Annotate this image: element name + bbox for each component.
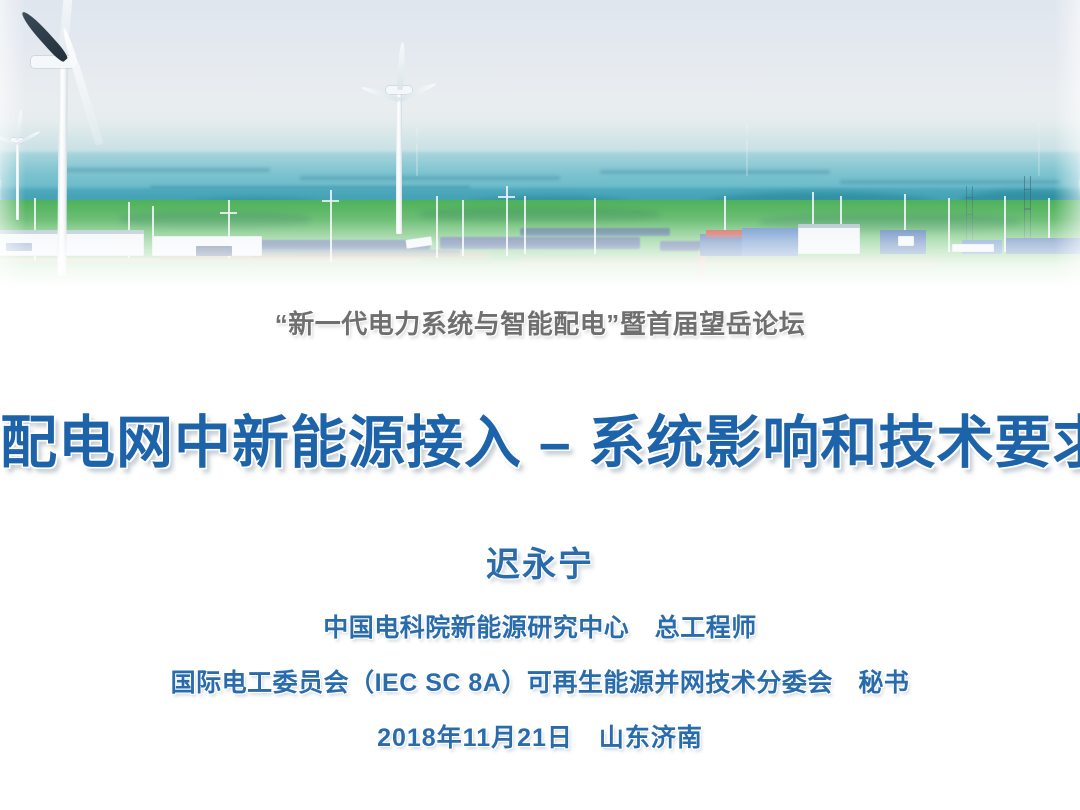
photo-bottom-fade xyxy=(0,198,1080,290)
turbine-mast xyxy=(746,138,748,176)
slide-text-content: “新一代电力系统与智能配电”暨首届望岳论坛 配电网中新能源接入 – 系统影响和技… xyxy=(0,290,1080,754)
wind-farm-banner-photo xyxy=(0,0,1080,290)
page-title: 配电网中新能源接入 – 系统影响和技术要求 xyxy=(0,397,1080,479)
turbine-blade xyxy=(416,128,418,144)
presenter-name: 迟永宁 xyxy=(0,537,1080,586)
presenter-affiliation-1: 中国电科院新能源研究中心 总工程师 xyxy=(0,608,1080,644)
turbine-mast xyxy=(416,142,418,176)
conference-name: “新一代电力系统与智能配电”暨首届望岳论坛 xyxy=(0,304,1080,341)
date-and-location: 2018年11月21日 山东济南 xyxy=(0,718,1080,754)
turbine-blade xyxy=(746,124,748,140)
distant-streak xyxy=(300,176,560,180)
distant-streak xyxy=(60,168,270,172)
presenter-affiliation-2: 国际电工委员会（IEC SC 8A）可再生能源并网技术分委会 秘书 xyxy=(0,663,1080,699)
turbine-mast xyxy=(1038,136,1040,176)
distant-streak xyxy=(600,170,830,174)
presentation-title-slide: “新一代电力系统与智能配电”暨首届望岳论坛 配电网中新能源接入 – 系统影响和技… xyxy=(0,0,1080,810)
turbine-blade xyxy=(1038,122,1040,138)
